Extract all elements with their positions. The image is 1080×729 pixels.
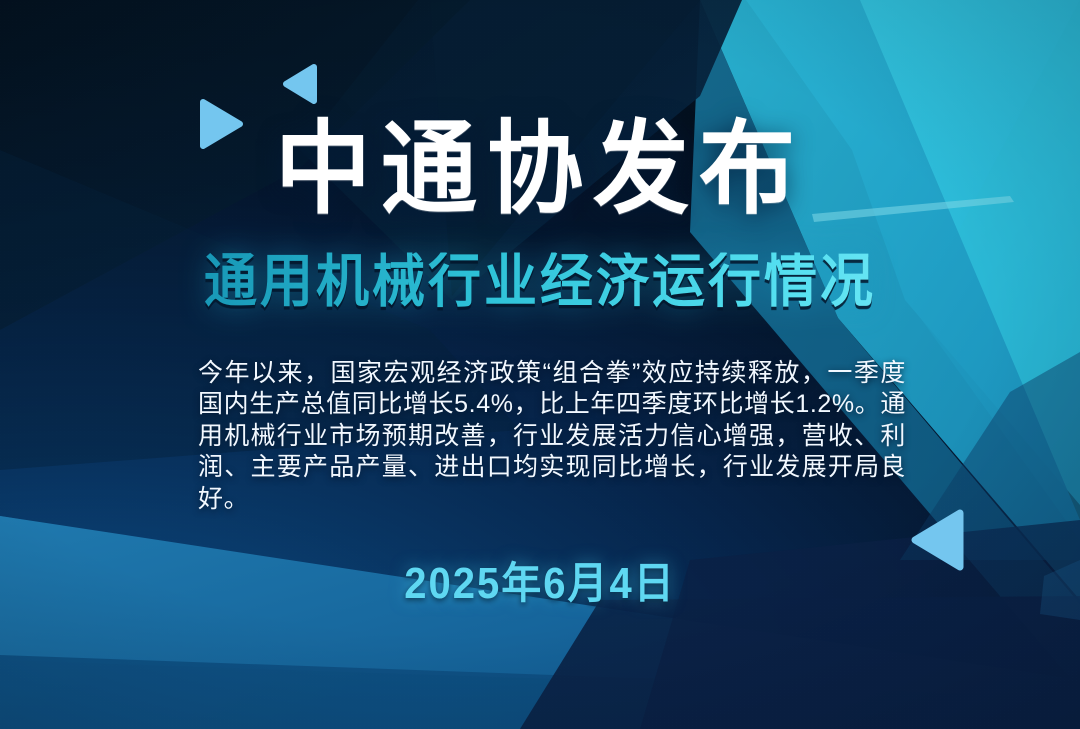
- page-subtitle: 通用机械行业经济运行情况: [0, 252, 1080, 310]
- publish-date: 2025年6月4日: [0, 562, 1080, 605]
- body-text-block: 今年以来，国家宏观经济政策“组合拳”效应持续释放，一季度国内生产总值同比增长5.…: [198, 358, 906, 515]
- page-title: 中通协发布: [0, 119, 1080, 221]
- body-paragraph: 今年以来，国家宏观经济政策“组合拳”效应持续释放，一季度国内生产总值同比增长5.…: [198, 358, 906, 515]
- poster-content: 中通协发布 通用机械行业经济运行情况 今年以来，国家宏观经济政策“组合拳”效应持…: [0, 0, 1080, 729]
- poster-canvas: 中通协发布 通用机械行业经济运行情况 今年以来，国家宏观经济政策“组合拳”效应持…: [0, 0, 1080, 729]
